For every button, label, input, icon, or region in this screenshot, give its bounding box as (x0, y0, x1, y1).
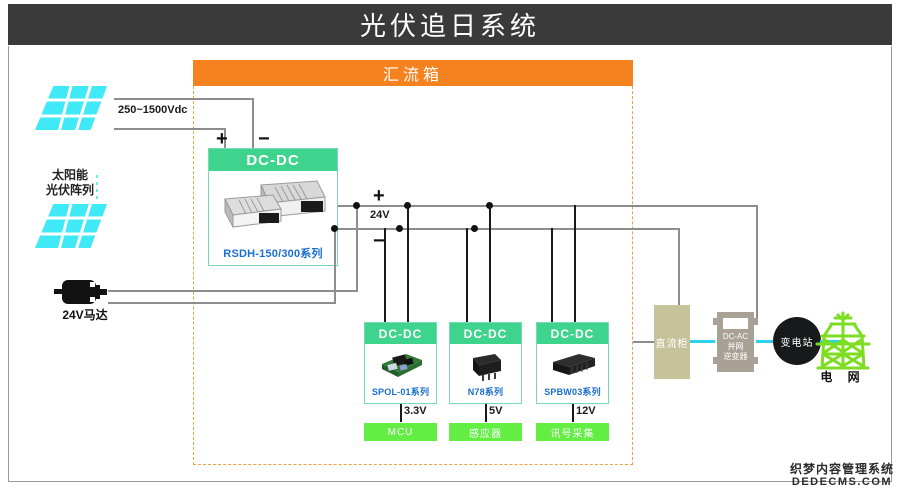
solar-panel-top-icon (30, 82, 114, 140)
spol-module-image (376, 348, 426, 384)
combiner-box-title: 汇流箱 (383, 61, 443, 85)
converter-3-header: DC-DC (537, 323, 608, 344)
cyan-wire-cabinet-inverter (690, 340, 715, 343)
converter-card-3: DC-DC SPBW03系列 (536, 322, 609, 404)
converter-1-body: SPOL-01系列 (365, 344, 436, 403)
converter2-drop-positive (489, 205, 491, 322)
pv-wire-negative-h (114, 128, 226, 130)
n78-module-image (463, 348, 509, 384)
converter-card-2: DC-DC N78系列 (449, 322, 522, 404)
converter-3-output-voltage: 12V (576, 405, 596, 417)
motor-wire-to-plus (356, 205, 358, 292)
solar-array-label: 太阳能 光伏阵列 (22, 168, 118, 198)
bus-junction-dot-6 (471, 225, 478, 232)
load-box-sensor: 感应器 (449, 423, 522, 441)
converter3-drop-positive (574, 205, 576, 322)
main-plus-sign: + (216, 129, 228, 149)
converter-2-header: DC-DC (450, 323, 521, 344)
pv-voltage-label: 250~1500Vdc (118, 104, 187, 116)
motor-wire-bottom (108, 302, 336, 304)
bus-minus-sign: − (373, 231, 385, 251)
load-box-signal-acq: 讯号采集 (536, 423, 609, 441)
title-bar: 光伏追日系统 (8, 4, 892, 45)
converter-1-part-number: SPOL-01系列 (372, 385, 429, 398)
converter-3-body: SPBW03系列 (537, 344, 608, 403)
main-dcdc-card: DC-DC (208, 148, 338, 266)
main-dcdc-body: RSDH-150/300系列 (209, 171, 337, 266)
combiner-box-header: 汇流箱 (193, 60, 633, 86)
spbw03-module-image (547, 348, 599, 382)
main-minus-sign: − (258, 129, 270, 149)
inverter-label: DC-AC 并网 逆变器 (717, 332, 754, 362)
motor-label: 24V马达 (40, 306, 130, 323)
converter-card-1: DC-DC SPOL-01系列 (364, 322, 437, 404)
watermark-en: DEDECMS.COM (790, 476, 894, 489)
converter-3-part-number: SPBW03系列 (544, 385, 601, 398)
motor-wire-top (108, 290, 358, 292)
diagram-canvas: 光伏追日系统 汇流箱 太阳能 光伏阵列 250~1500 (0, 0, 900, 493)
rsdh-module-image (217, 175, 329, 235)
bus-positive-line (338, 205, 758, 207)
dc-cabinet-label: 直流柜 (656, 335, 689, 350)
watermark: 织梦内容管理系统 DEDECMS.COM (790, 463, 894, 489)
converter1-drop-positive (407, 205, 409, 322)
converter3-drop-negative (551, 228, 553, 322)
bus-positive-right-drop (756, 205, 758, 325)
converter-2-output-voltage: 5V (489, 405, 502, 417)
converter-2-body: N78系列 (450, 344, 521, 403)
power-pylon-icon (808, 310, 878, 377)
solar-panel-bottom-icon (30, 200, 114, 258)
inverter-unit: DC-AC 并网 逆变器 (713, 312, 758, 372)
converter-3-output-wire (572, 404, 574, 422)
bus-junction-dot-4 (396, 225, 403, 232)
converter-2-output-wire (485, 404, 487, 422)
converter1-drop-negative (384, 228, 386, 322)
converter-1-output-wire (400, 404, 402, 422)
bus-junction-dot-1 (353, 202, 360, 209)
bus-voltage-label: 24V (370, 209, 390, 221)
dc-cabinet: 直流柜 (654, 305, 690, 379)
motor-wire-to-minus (334, 228, 336, 304)
bus-negative-line (338, 228, 680, 230)
bus-plus-sign: + (373, 186, 385, 206)
bus-junction-dot-2 (331, 225, 338, 232)
grid-label: 电 网 (805, 368, 881, 385)
main-dcdc-header: DC-DC (209, 149, 337, 171)
converter-1-output-voltage: 3.3V (404, 405, 427, 417)
converter-1-header: DC-DC (365, 323, 436, 344)
page-title: 光伏追日系统 (360, 6, 540, 43)
pv-wire-positive-v (252, 98, 254, 148)
load-box-mcu: MCU (364, 423, 437, 441)
pv-wire-positive-h (114, 98, 254, 100)
converter-2-part-number: N78系列 (468, 385, 504, 398)
inverter-display (723, 318, 748, 329)
converter2-drop-negative (466, 228, 468, 322)
main-dcdc-part-number: RSDH-150/300系列 (223, 245, 322, 261)
watermark-cn: 织梦内容管理系统 (790, 463, 894, 476)
